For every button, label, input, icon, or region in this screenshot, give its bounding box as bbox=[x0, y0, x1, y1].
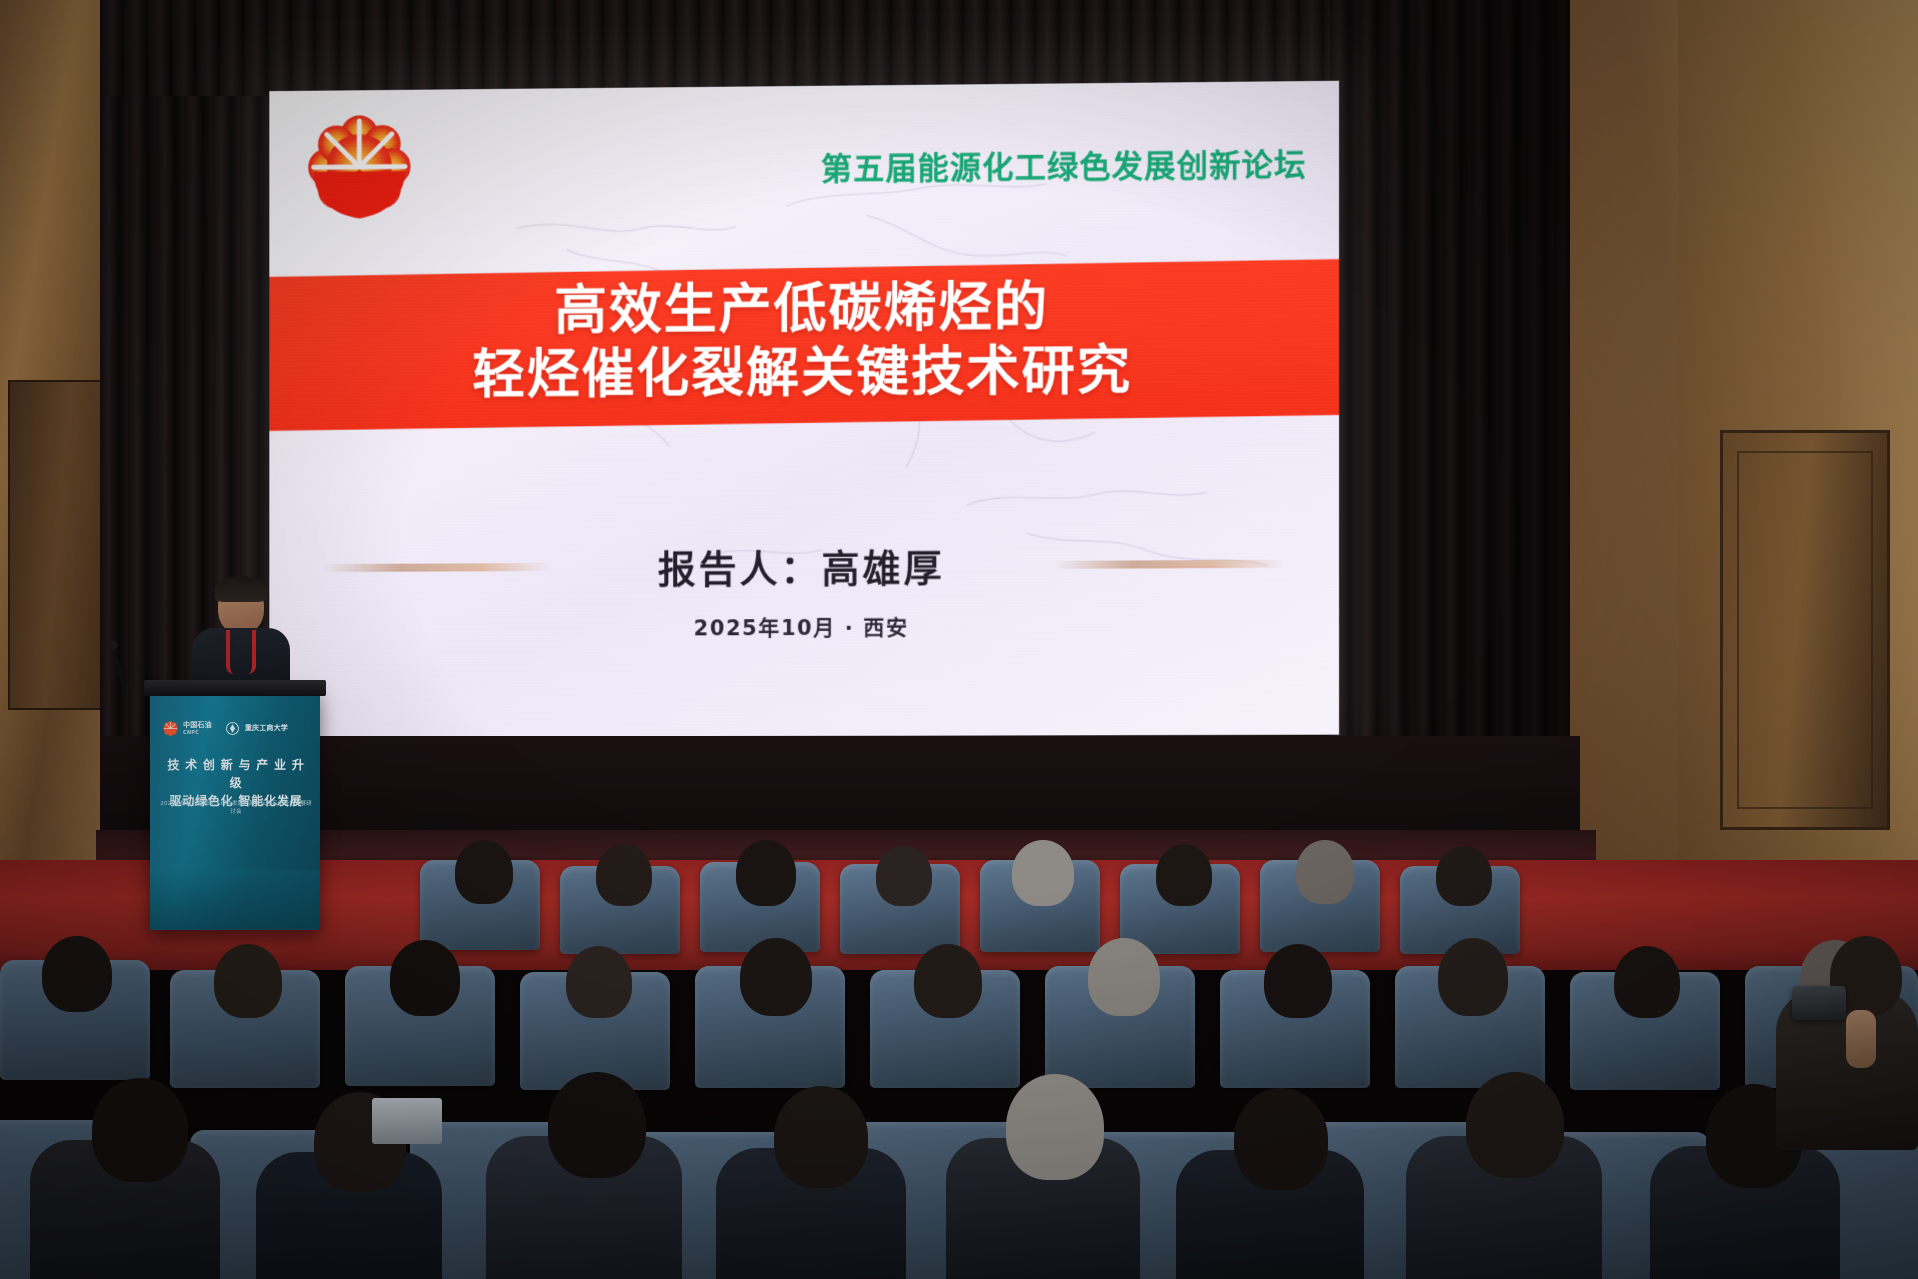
conference-header: 第五届能源化工绿色发展创新论坛 bbox=[821, 139, 1307, 188]
audience-head bbox=[774, 1086, 868, 1188]
petrochina-logo bbox=[305, 112, 414, 222]
audience-head bbox=[92, 1078, 188, 1182]
audience-head bbox=[1234, 1088, 1328, 1190]
door-right bbox=[1720, 430, 1890, 830]
audience-head bbox=[1006, 1074, 1104, 1180]
podium-slogan-line-1: 技 术 创 新 与 产 业 升 级 bbox=[160, 756, 312, 792]
speaker-lanyard bbox=[226, 630, 256, 674]
audience-head bbox=[914, 944, 982, 1018]
slide-title-line-1: 高效生产低碳烯烃的 bbox=[269, 274, 1339, 345]
audience-head bbox=[1264, 944, 1332, 1018]
audience-head bbox=[876, 846, 932, 906]
audience-head bbox=[740, 938, 812, 1016]
audience-head bbox=[390, 940, 460, 1016]
laptop-icon bbox=[372, 1098, 442, 1144]
audience-head bbox=[736, 840, 796, 906]
audience-head bbox=[455, 840, 513, 904]
audience-area bbox=[0, 840, 1918, 1279]
audience-head bbox=[1296, 840, 1354, 904]
audience-head bbox=[1438, 938, 1508, 1016]
audience-head bbox=[1614, 946, 1680, 1018]
cnpc-logo: 中国石油 CNPC bbox=[162, 720, 212, 737]
presenter-line: 报告人：高雄厚 bbox=[269, 535, 1339, 595]
audience-head bbox=[596, 844, 652, 906]
audience-head bbox=[214, 944, 282, 1018]
cnpc-mark-icon bbox=[162, 720, 179, 737]
podium-logo-row: 中国石油 CNPC 重庆工商大学 bbox=[162, 716, 312, 740]
cnpc-logo-text: 中国石油 CNPC bbox=[183, 720, 212, 736]
university-logo-text: 重庆工商大学 bbox=[245, 723, 288, 733]
university-logo: 重庆工商大学 bbox=[224, 720, 288, 737]
university-mark-icon bbox=[224, 720, 241, 737]
raised-hand bbox=[1846, 1010, 1876, 1068]
audience-head bbox=[548, 1072, 646, 1178]
auditorium-scene: 第五届能源化工绿色发展创新论坛 高效生产低碳烯烃的 轻烃催化裂解关键技术研究 报… bbox=[0, 0, 1918, 1279]
slide-title-line-2: 轻烃催化裂解关键技术研究 bbox=[269, 338, 1339, 409]
audience-head bbox=[1466, 1072, 1564, 1178]
audience-head bbox=[1156, 844, 1212, 906]
podium-top-surface bbox=[144, 680, 326, 696]
audience-head bbox=[42, 936, 112, 1012]
audience-head bbox=[1436, 846, 1492, 906]
podium-subtitle: 2025年第五届能源化工绿色发展创新论坛暨石化绿色发展研讨会 bbox=[160, 800, 312, 817]
audience-head bbox=[566, 946, 632, 1018]
date-location: 2025年10月 · 西安 bbox=[269, 610, 1339, 644]
camera-icon bbox=[1792, 986, 1846, 1020]
audience-head bbox=[1012, 840, 1074, 906]
audience-head bbox=[1088, 938, 1160, 1016]
projection-screen: 第五届能源化工绿色发展创新论坛 高效生产低碳烯烃的 轻烃催化裂解关键技术研究 报… bbox=[269, 81, 1339, 738]
speaker-hair bbox=[215, 576, 267, 602]
slide-title: 高效生产低碳烯烃的 轻烃催化裂解关键技术研究 bbox=[269, 274, 1339, 409]
